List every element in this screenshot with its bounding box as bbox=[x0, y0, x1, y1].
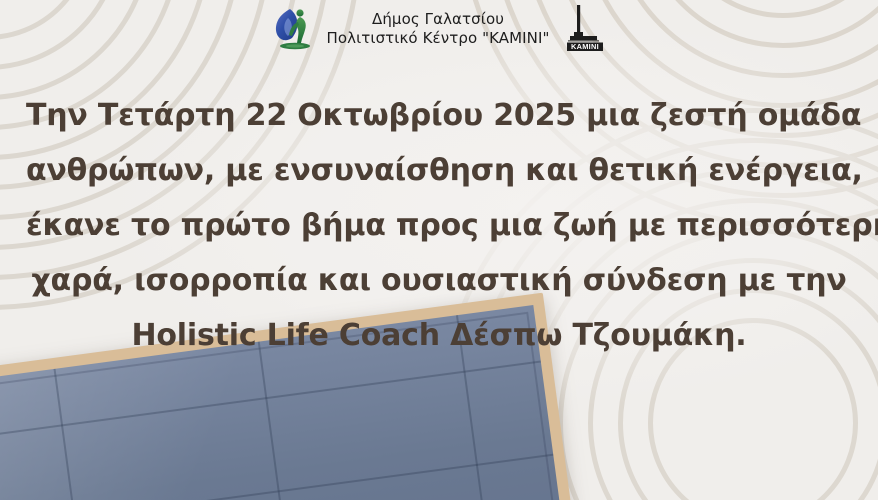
body-line-2: ανθρώπων, με ενσυναίσθηση και θετική ενέ… bbox=[26, 143, 852, 198]
header-cultural-center-name: Πολιτιστικό Κέντρο "KAMINI" bbox=[326, 29, 549, 47]
poster-body-text: Την Τετάρτη 22 Οκτωβρίου 2025 μια ζεστή … bbox=[0, 88, 878, 363]
galatsi-municipality-logo-icon bbox=[272, 4, 316, 52]
poster-header: Δήμος Γαλατσίου Πολιτιστικό Κέντρο "KAMI… bbox=[0, 0, 878, 56]
header-municipality-name: Δήμος Γαλατσίου bbox=[372, 10, 504, 28]
body-line-4: χαρά, ισορροπία και ουσιαστική σύνδεση μ… bbox=[26, 253, 852, 308]
kamini-logo-icon: KAMINI bbox=[564, 3, 606, 53]
header-titles: Δήμος Γαλατσίου Πολιτιστικό Κέντρο "KAMI… bbox=[326, 9, 549, 47]
body-line-1: Την Τετάρτη 22 Οκτωβρίου 2025 μια ζεστή … bbox=[26, 88, 852, 143]
kamini-wordmark-text: KAMINI bbox=[571, 42, 599, 51]
body-line-5: Holistic Life Coach Δέσπω Τζουμάκη. bbox=[26, 308, 852, 363]
body-line-3: έκανε το πρώτο βήμα προς μια ζωή με περι… bbox=[26, 198, 852, 253]
poster-canvas: Δήμος Γαλατσίου Πολιτιστικό Κέντρο "KAMI… bbox=[0, 0, 878, 500]
